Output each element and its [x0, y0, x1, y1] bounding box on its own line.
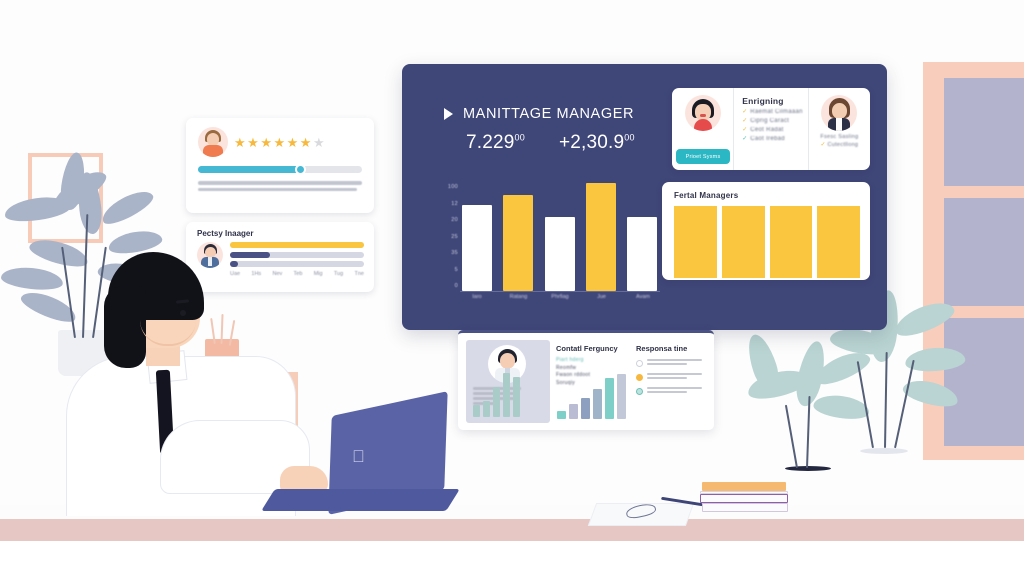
response-row[interactable]	[636, 373, 702, 381]
progress-label: Mig	[314, 271, 323, 277]
progress-bar-fill	[230, 252, 270, 258]
plant-pot-shadow	[860, 448, 908, 454]
rating-slider[interactable]	[198, 166, 362, 173]
star-icon[interactable]: ★	[287, 136, 299, 149]
bar[interactable]	[627, 217, 657, 291]
response-text-lines	[647, 359, 702, 367]
hair-back	[104, 286, 146, 368]
shelf-panel-2	[944, 198, 1024, 306]
checklist-item-label: Ceot Radat	[750, 127, 783, 133]
agent-right-label: Fsesc Sasling	[820, 134, 858, 140]
rating-stars[interactable]: ★★★★★★★	[234, 136, 325, 149]
kpi-primary-sup: 00	[515, 133, 525, 143]
bar-column[interactable]	[503, 195, 533, 291]
progress-label: Tne	[354, 271, 363, 277]
contact-frequency-panel: Contatl Ferguncy Piart hdergReomfwFwaon …	[550, 340, 630, 423]
contact-frequency-heading: Contatl Ferguncy	[556, 344, 624, 353]
agents-card[interactable]: Prioet Sysms Enrigning ✓Raemat Cilmaaan✓…	[672, 88, 870, 170]
plant-pot-shadow	[785, 466, 831, 471]
progress-bar-fill	[230, 261, 238, 267]
y-tick-label: 5	[455, 267, 458, 273]
x-tick-label: Avam	[626, 294, 660, 300]
illustration-scene: MANITTAGE MANAGER 7.22900 +2,30.900 1001…	[0, 0, 1024, 585]
y-tick-label: 20	[451, 217, 458, 223]
bar[interactable]	[503, 195, 533, 291]
progress-card-heading: Pectsy Inaager	[197, 229, 364, 238]
profile-mini-bars	[473, 379, 520, 417]
kpi-primary: 7.22900	[466, 132, 525, 154]
frequency-bar[interactable]	[593, 389, 602, 419]
bar[interactable]	[586, 183, 616, 291]
y-tick-label: 25	[451, 234, 458, 240]
star-icon[interactable]: ★	[247, 136, 259, 149]
dot-yellow-icon	[636, 374, 643, 381]
avatar	[198, 127, 228, 157]
x-tick-label: Iaro	[460, 294, 494, 300]
rental-managers-heading: Fertal Managers	[674, 191, 860, 200]
mini-bar	[483, 401, 490, 417]
checklist-item[interactable]: ✓Ceot Radat	[742, 127, 803, 133]
star-icon[interactable]: ★	[260, 136, 272, 149]
rental-bar[interactable]	[722, 206, 765, 278]
frequency-bar[interactable]	[569, 404, 578, 419]
kpi-row: 7.22900 +2,30.900	[466, 132, 635, 154]
slider-knob[interactable]	[295, 164, 306, 175]
checklist-item[interactable]: ✓Ciprig Caract	[742, 118, 803, 124]
star-icon[interactable]: ★	[273, 136, 285, 149]
apple-logo-icon: 	[352, 448, 368, 466]
progress-bars: Uae1HsNevTebMigTugTne	[230, 242, 364, 277]
book-purple	[700, 494, 788, 503]
checklist-item-label: Caot Irebad	[750, 136, 785, 142]
rental-bar[interactable]	[674, 206, 717, 278]
kpi-secondary-sup: 00	[624, 133, 634, 143]
y-tick-label: 12	[451, 201, 458, 207]
progress-bar-track[interactable]	[230, 261, 364, 267]
x-tick-label: Ratang	[502, 294, 536, 300]
x-tick-label: Phrfiag	[543, 294, 577, 300]
floor-lower	[0, 541, 1024, 585]
y-tick-label: 100	[448, 184, 458, 190]
dot-teal-icon	[636, 388, 643, 395]
agent-left[interactable]: Prioet Sysms	[672, 88, 733, 170]
kpi-secondary: +2,30.900	[559, 132, 635, 154]
frequency-bar[interactable]	[617, 374, 626, 419]
checklist-item-label: Ciprig Caract	[750, 118, 789, 124]
bar[interactable]	[545, 217, 575, 291]
contact-frequency-bars	[557, 369, 626, 419]
chevron-right-icon	[444, 108, 453, 120]
checklist-item[interactable]: ✓Caot Irebad	[742, 136, 803, 142]
dot-outline-icon	[636, 360, 643, 367]
response-text-lines	[647, 373, 702, 381]
agent-right-subrow: ✓ Cutectllong	[820, 142, 858, 148]
response-time-panel: Responsa tine	[630, 340, 706, 423]
response-time-heading: Responsa tine	[636, 344, 702, 353]
agent-checklist: Enrigning ✓Raemat Cilmaaan✓Ciprig Caract…	[733, 88, 809, 170]
checklist-item[interactable]: ✓Raemat Cilmaaan	[742, 109, 803, 115]
check-icon: ✓	[742, 128, 747, 133]
progress-label: Nev	[272, 271, 282, 277]
response-text-lines	[647, 387, 702, 395]
rental-managers-bars	[674, 206, 860, 278]
progress-bar-labels: Uae1HsNevTebMigTugTne	[230, 271, 364, 277]
y-tick-label: 0	[455, 283, 458, 289]
rental-managers-card[interactable]: Fertal Managers	[662, 182, 870, 280]
dashboard-header: MANITTAGE MANAGER	[444, 106, 634, 122]
rental-bar[interactable]	[817, 206, 860, 278]
check-icon: ✓	[742, 137, 747, 142]
review-header: ★★★★★★★	[198, 127, 362, 157]
book-white	[702, 503, 788, 512]
progress-label: Tug	[334, 271, 343, 277]
frequency-bar[interactable]	[557, 411, 566, 419]
analytics-profile-panel	[466, 340, 550, 423]
rental-bar[interactable]	[770, 206, 813, 278]
progress-bar-track[interactable]	[230, 252, 364, 258]
checklist-heading: Enrigning	[742, 96, 803, 106]
progress-bar-track[interactable]	[230, 242, 364, 248]
laptop-base	[261, 489, 460, 511]
avatar	[821, 95, 857, 131]
progress-label: Uae	[230, 271, 240, 277]
progress-bar-fill	[230, 242, 364, 248]
bar-column[interactable]	[586, 183, 616, 291]
floor-strip	[0, 519, 1024, 541]
star-icon[interactable]: ★	[313, 136, 325, 149]
check-icon: ✓	[820, 143, 825, 148]
eye	[180, 310, 186, 316]
frequency-bar[interactable]	[605, 378, 614, 419]
mini-bar	[473, 405, 480, 417]
bar[interactable]	[462, 205, 492, 291]
dashboard-title: MANITTAGE MANAGER	[463, 106, 634, 122]
mini-bar	[493, 387, 500, 417]
avatar	[197, 242, 223, 268]
checklist-item-label: Raemat Cilmaaan	[750, 109, 803, 115]
progress-label: Teb	[294, 271, 303, 277]
review-text	[198, 181, 362, 191]
bar-column[interactable]	[545, 217, 575, 291]
bar-column[interactable]	[627, 217, 657, 291]
slider-fill	[198, 166, 300, 173]
chart-y-axis: 1001220253550	[426, 184, 458, 289]
shelf-panel-3	[944, 318, 1024, 446]
star-icon[interactable]: ★	[300, 136, 312, 149]
bar-column[interactable]	[462, 205, 492, 291]
legend-entry: Piart hderg	[556, 357, 624, 363]
chart-x-labels: IaroRatangPhrfiagJueAvam	[460, 294, 660, 300]
frequency-bar[interactable]	[581, 398, 590, 419]
agent-right[interactable]: Fsesc Sasling ✓ Cutectllong	[809, 88, 870, 170]
agent-primary-button[interactable]: Prioet Sysms	[676, 149, 730, 164]
progress-label: 1Hs	[251, 271, 261, 277]
agent-right-sublabel: Cutectllong	[827, 142, 858, 148]
book-orange	[702, 482, 786, 491]
mini-bar	[513, 377, 520, 417]
progress-card[interactable]: Pectsy Inaager Uae1HsNevTebMigTugTne	[186, 222, 374, 292]
response-row[interactable]	[636, 387, 702, 395]
avatar	[685, 95, 721, 131]
review-card[interactable]: ★★★★★★★	[186, 118, 374, 213]
progress-card-body: Uae1HsNevTebMigTugTne	[197, 242, 364, 277]
mini-bar	[503, 373, 510, 417]
bar-chart[interactable]	[462, 176, 657, 291]
response-row[interactable]	[636, 359, 702, 367]
check-icon: ✓	[742, 110, 747, 115]
check-icon: ✓	[742, 119, 747, 124]
shelf-panel-1	[944, 78, 1024, 186]
y-tick-label: 35	[451, 250, 458, 256]
chart-axis-line	[460, 291, 660, 292]
analytics-panel[interactable]: Contatl Ferguncy Piart hdergReomfwFwaon …	[458, 330, 714, 430]
star-icon[interactable]: ★	[234, 136, 246, 149]
x-tick-label: Jue	[585, 294, 619, 300]
